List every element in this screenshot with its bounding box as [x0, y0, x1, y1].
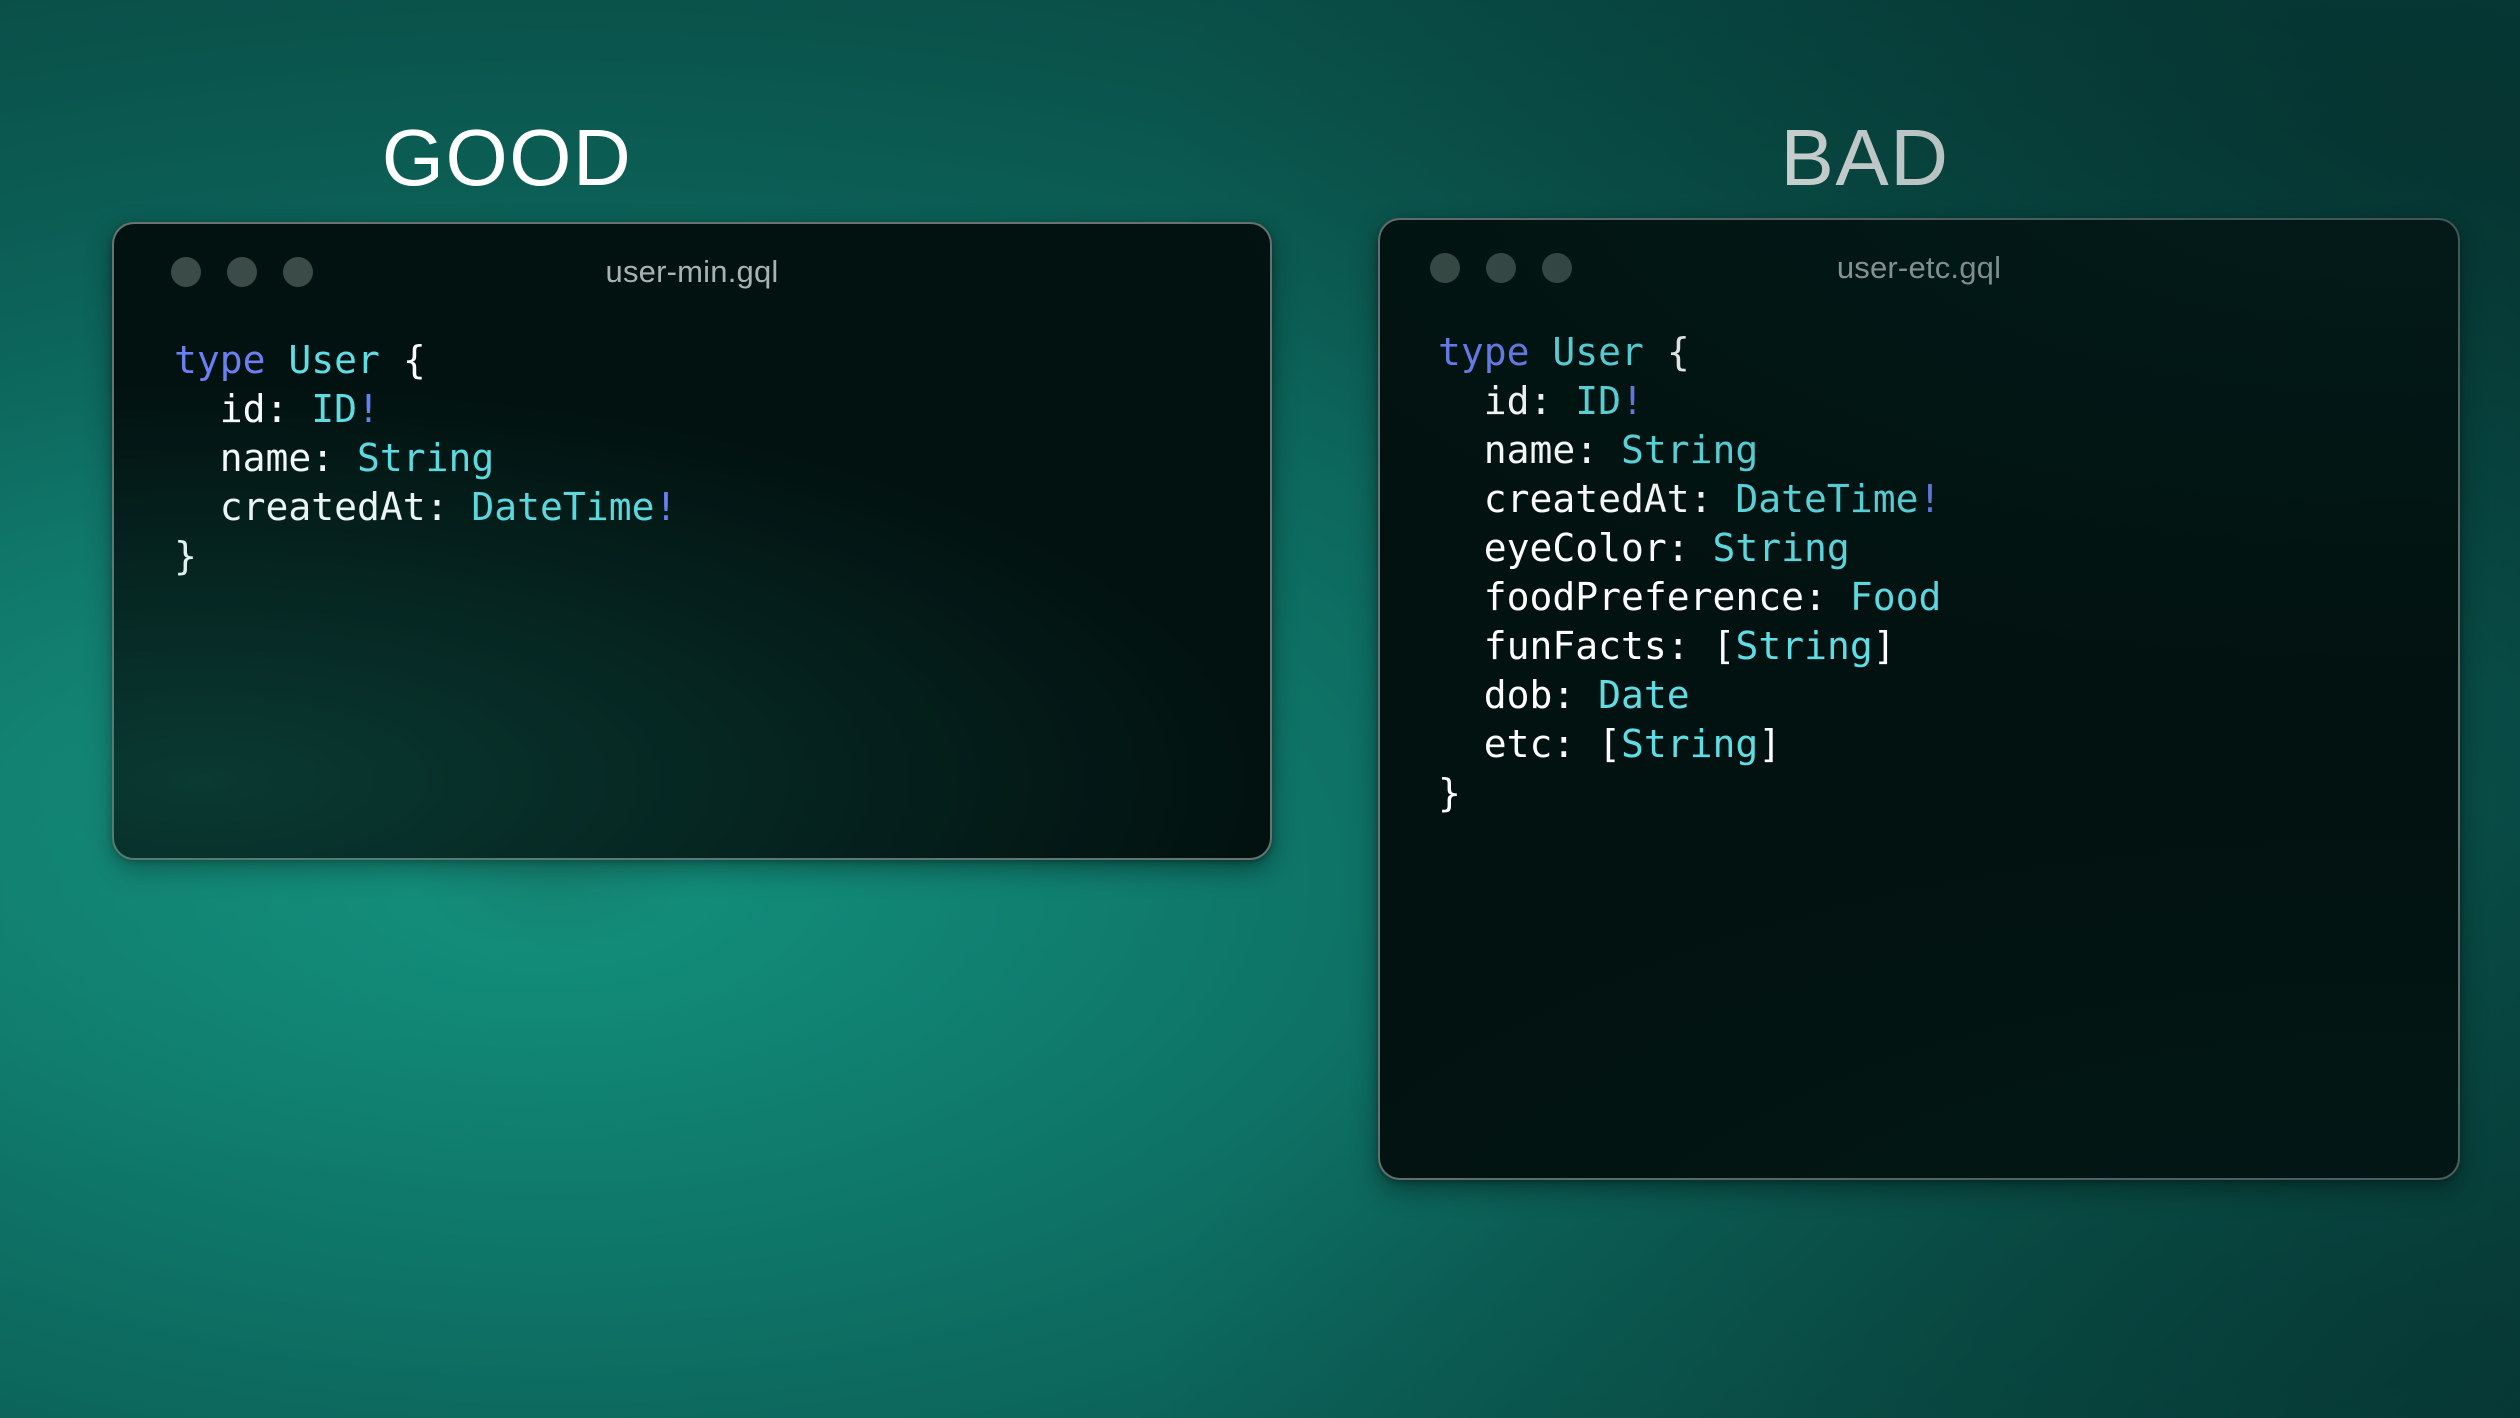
window-dot-close-icon[interactable] [1430, 253, 1460, 283]
code-token: DateTime [471, 485, 654, 529]
code-token: name: [174, 436, 357, 480]
code-token: dob: [1438, 673, 1598, 717]
heading-good: GOOD [0, 118, 1177, 198]
code-line: foodPreference: Food [1438, 573, 2458, 622]
panel-bad: BAD user-etc.gql type User { id: ID! nam… [1340, 0, 2520, 1418]
code-card-bad: user-etc.gql type User { id: ID! name: S… [1378, 218, 2460, 1180]
code-token: ID [1575, 379, 1621, 423]
code-line: etc: [String] [1438, 720, 2458, 769]
code-block-good: type User { id: ID! name: String created… [174, 336, 1270, 581]
code-token [380, 338, 403, 382]
code-line: funFacts: [String] [1438, 622, 2458, 671]
code-token: User [1552, 330, 1644, 374]
code-token: DateTime [1735, 477, 1918, 521]
code-token: eyeColor: [1438, 526, 1713, 570]
code-line: name: String [1438, 426, 2458, 475]
code-token: id: [1438, 379, 1575, 423]
code-line: id: ID! [174, 385, 1270, 434]
code-token: String [1713, 526, 1850, 570]
code-token: [ [1598, 722, 1621, 766]
code-token: etc: [1438, 722, 1598, 766]
code-token: createdAt: [174, 485, 471, 529]
code-line: name: String [174, 434, 1270, 483]
comparison-graphic: GOOD user-min.gql type User { id: ID! na… [0, 0, 2520, 1418]
code-line: createdAt: DateTime! [174, 483, 1270, 532]
code-line: } [1438, 769, 2458, 818]
code-token: type [1438, 330, 1530, 374]
card-titlebar-bad: user-etc.gql [1380, 220, 2458, 316]
code-token [266, 338, 289, 382]
window-dot-zoom-icon[interactable] [1542, 253, 1572, 283]
code-token: ! [1918, 477, 1941, 521]
filename-label-bad: user-etc.gql [1837, 250, 2001, 286]
heading-bad: BAD [1275, 118, 2455, 198]
code-token: ID [311, 387, 357, 431]
code-line: } [174, 532, 1270, 581]
window-dot-close-icon[interactable] [171, 257, 201, 287]
code-line: eyeColor: String [1438, 524, 2458, 573]
code-token: id: [174, 387, 311, 431]
code-token: [ [1713, 624, 1736, 668]
code-token [1644, 330, 1667, 374]
code-line: type User { [174, 336, 1270, 385]
code-token: ! [357, 387, 380, 431]
code-token: ] [1758, 722, 1781, 766]
code-token: ] [1873, 624, 1896, 668]
code-line: createdAt: DateTime! [1438, 475, 2458, 524]
code-token: String [357, 436, 494, 480]
panel-good: GOOD user-min.gql type User { id: ID! na… [0, 0, 1340, 1418]
window-controls-good [171, 257, 313, 287]
code-line: dob: Date [1438, 671, 2458, 720]
code-token: name: [1438, 428, 1621, 472]
card-titlebar-good: user-min.gql [114, 224, 1270, 320]
window-dot-minimize-icon[interactable] [1486, 253, 1516, 283]
code-line: id: ID! [1438, 377, 2458, 426]
code-token: funFacts: [1438, 624, 1713, 668]
code-token: createdAt: [1438, 477, 1735, 521]
window-dot-minimize-icon[interactable] [227, 257, 257, 287]
code-token: } [174, 534, 197, 578]
code-token [1530, 330, 1553, 374]
code-token: ! [654, 485, 677, 529]
code-block-bad: type User { id: ID! name: String created… [1438, 328, 2458, 818]
code-token: Date [1598, 673, 1690, 717]
filename-label-good: user-min.gql [606, 254, 779, 290]
code-line: type User { [1438, 328, 2458, 377]
code-token: Food [1850, 575, 1942, 619]
code-token: String [1621, 428, 1758, 472]
code-token: String [1621, 722, 1758, 766]
code-token: } [1438, 771, 1461, 815]
code-card-good: user-min.gql type User { id: ID! name: S… [112, 222, 1272, 860]
code-token: type [174, 338, 266, 382]
window-controls-bad [1430, 253, 1572, 283]
code-token: User [288, 338, 380, 382]
code-token: { [403, 338, 426, 382]
code-token: { [1667, 330, 1690, 374]
window-dot-zoom-icon[interactable] [283, 257, 313, 287]
code-token: foodPreference: [1438, 575, 1850, 619]
code-token: ! [1621, 379, 1644, 423]
code-token: String [1735, 624, 1872, 668]
